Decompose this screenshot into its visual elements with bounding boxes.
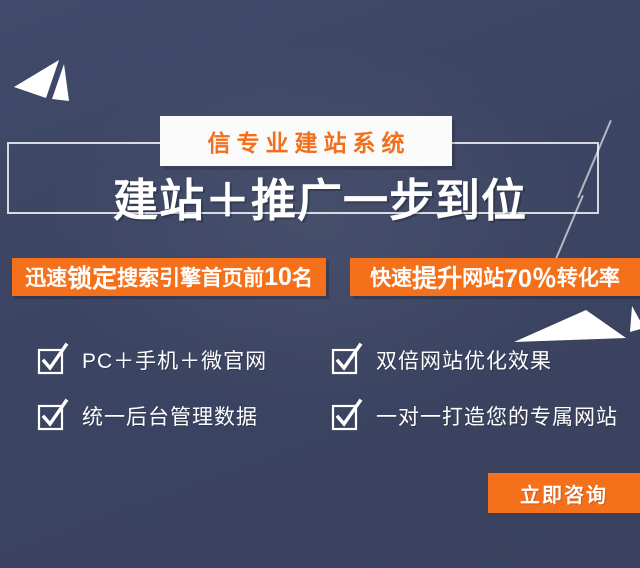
conversion-promise-bar: 快速提升网站70％转化率 (350, 258, 640, 296)
page-title: 建站＋推广一步到位 (0, 178, 640, 223)
checkbox-checked-icon (38, 403, 64, 429)
rank-promise-tail: 名 (292, 262, 313, 292)
badge-label: 信专业建站系统 (202, 124, 411, 158)
rank-promise-bar: 迅速锁定搜索引擎首页前10名 (12, 258, 326, 296)
feature-item-one-on-one-custom-site: 一对一打造您的专属网站 (320, 388, 640, 444)
rank-promise-number: 10 (264, 263, 292, 292)
checkbox-checked-icon (332, 403, 358, 429)
feature-item-unified-backend: 统一后台管理数据 (0, 388, 320, 444)
feature-label: 统一后台管理数据 (82, 401, 258, 431)
feature-label: 双倍网站优化效果 (376, 345, 552, 375)
rank-promise-rest: 搜索引擎首页前 (117, 262, 264, 292)
conversion-promise-lead: 快速 (370, 262, 412, 292)
feature-item-pc-mobile-wechat: PC＋手机＋微官网 (0, 332, 320, 388)
conversion-promise-number: 70％ (504, 259, 557, 295)
checkbox-checked-icon (38, 347, 64, 373)
conversion-promise-rest: 网站 (462, 262, 504, 292)
conversion-promise-tail: 转化率 (557, 262, 620, 292)
feature-row: 统一后台管理数据 一对一打造您的专属网站 (0, 388, 640, 444)
feature-label: PC＋手机＋微官网 (82, 345, 267, 375)
rank-promise-strong: 锁定 (67, 259, 117, 295)
feature-label: 一对一打造您的专属网站 (376, 401, 618, 431)
feature-list: PC＋手机＋微官网 双倍网站优化效果 (0, 332, 640, 444)
checkbox-checked-icon (332, 347, 358, 373)
badge: 信专业建站系统 (160, 116, 452, 166)
promo-banner: 信专业建站系统 建站＋推广一步到位 迅速锁定搜索引擎首页前10名 快速提升网站7… (0, 0, 640, 568)
conversion-promise-strong: 提升 (412, 259, 462, 295)
consult-now-button[interactable]: 立即咨询 (488, 473, 640, 513)
rank-promise-lead: 迅速 (25, 262, 67, 292)
feature-item-double-optimization: 双倍网站优化效果 (320, 332, 640, 388)
paper-plane-top-left-icon (12, 52, 82, 104)
feature-row: PC＋手机＋微官网 双倍网站优化效果 (0, 332, 640, 388)
